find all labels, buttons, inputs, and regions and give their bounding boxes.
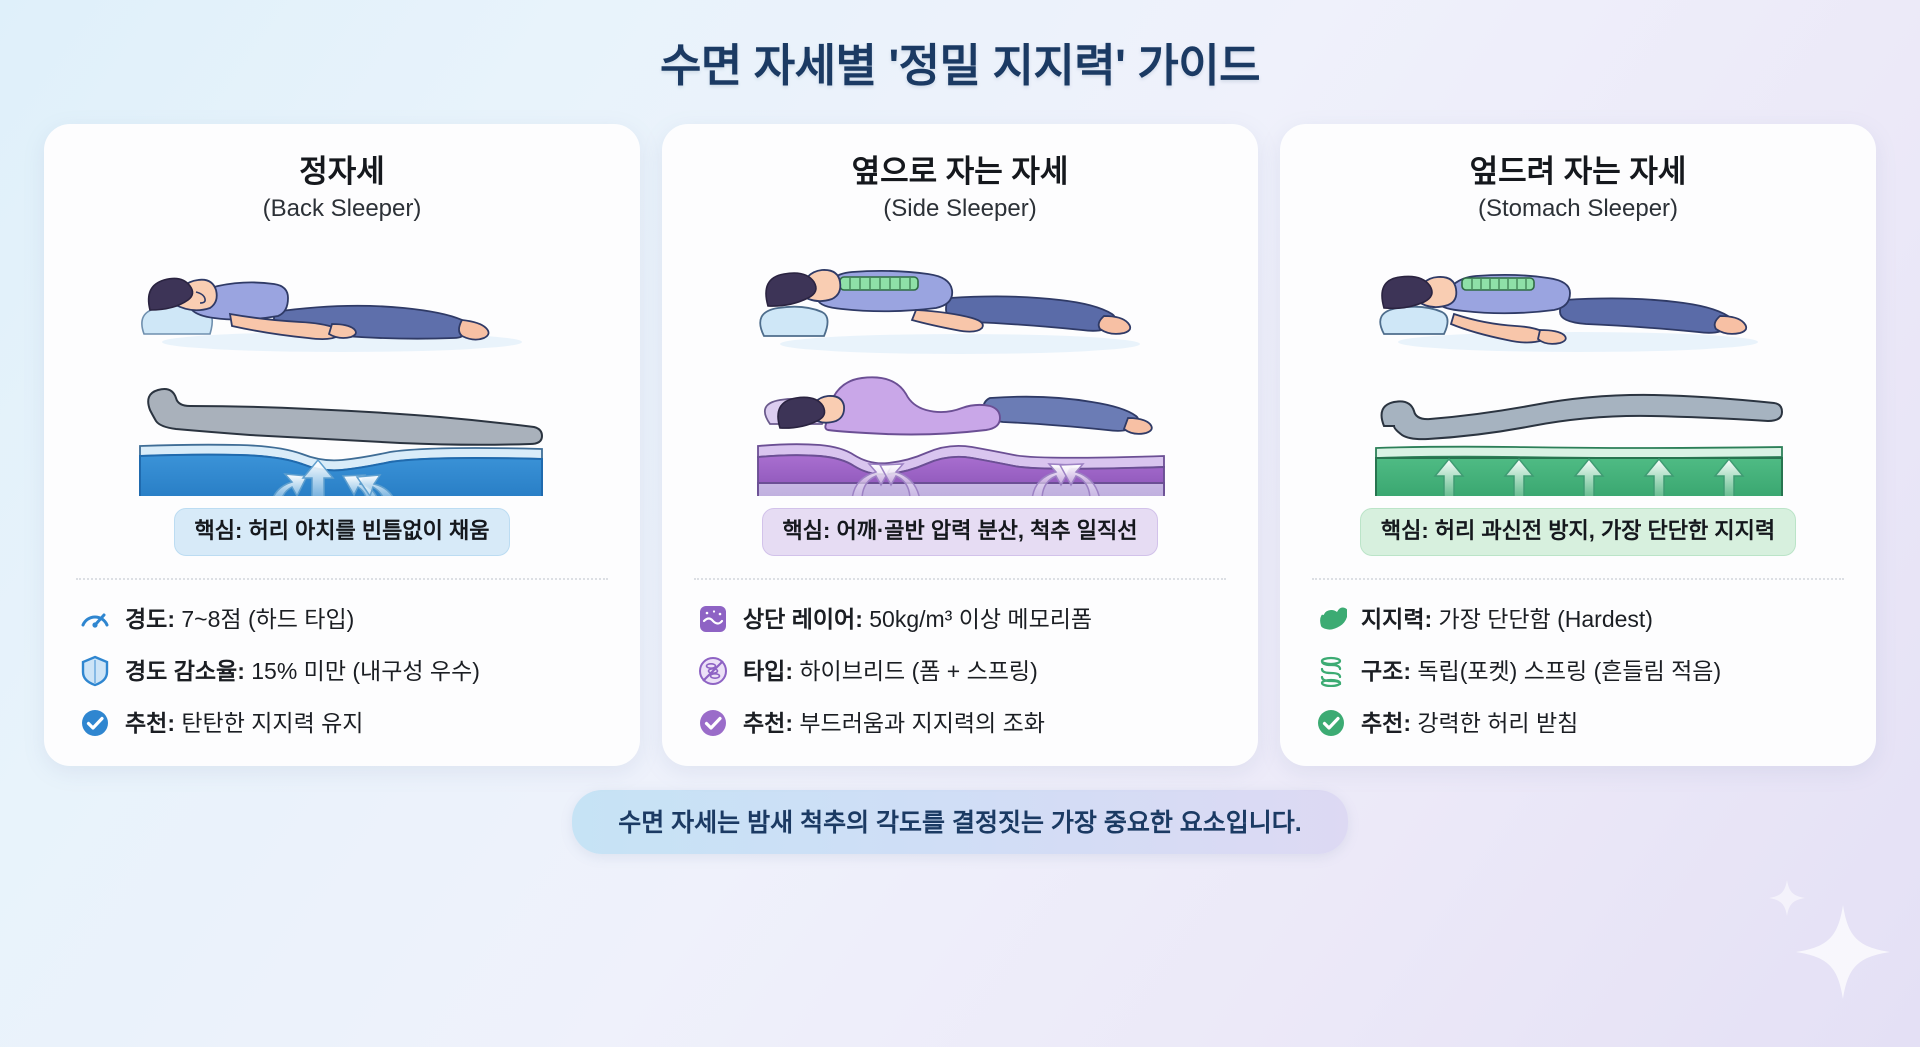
list-item-value: 부드러움과 지지력의 조화 bbox=[799, 710, 1045, 736]
card-title: 엎드려 자는 자세 bbox=[1306, 154, 1850, 191]
cards-row: 정자세 (Back Sleeper) bbox=[0, 94, 1920, 766]
list-item-text: 추천: 부드러움과 지지력의 조화 bbox=[743, 709, 1045, 738]
list-item: 지지력: 가장 단단함 (Hardest) bbox=[1314, 602, 1850, 636]
check-circle-icon bbox=[78, 706, 112, 740]
list-item-text: 상단 레이어: 50kg/m³ 이상 메모리폼 bbox=[743, 605, 1092, 634]
divider bbox=[76, 578, 608, 580]
list-item-label: 추천: bbox=[125, 710, 175, 736]
list-item-value: 독립(포켓) 스프링 (흔들림 적음) bbox=[1417, 658, 1721, 684]
footer-banner: 수면 자세는 밤새 척추의 각도를 결정짓는 가장 중요한 요소입니다. bbox=[572, 790, 1348, 854]
card-subtitle: (Side Sleeper) bbox=[688, 195, 1232, 224]
key-badge: 핵심: 허리 과신전 방지, 가장 단단한 지지력 bbox=[1360, 508, 1796, 556]
sparkle-small-decoration bbox=[1766, 877, 1808, 919]
bullet-list: 경도: 7~8점 (하드 타입) 경도 감소율: 15% 미만 (내구성 우수) bbox=[70, 602, 614, 740]
muscle-arm-icon bbox=[1314, 602, 1348, 636]
list-item: 추천: 탄탄한 지지력 유지 bbox=[78, 706, 614, 740]
list-item-label: 타입: bbox=[743, 658, 793, 684]
check-circle-icon bbox=[696, 706, 730, 740]
gauge-icon bbox=[78, 602, 112, 636]
card-subtitle: (Back Sleeper) bbox=[70, 195, 614, 224]
list-item-text: 타입: 하이브리드 (폼 + 스프링) bbox=[743, 657, 1038, 686]
list-item: 경도 감소율: 15% 미만 (내구성 우수) bbox=[78, 654, 614, 688]
bullet-list: 지지력: 가장 단단함 (Hardest) bbox=[1306, 602, 1850, 740]
key-badge-wrap: 핵심: 허리 아치를 빈틈없이 채움 bbox=[70, 508, 614, 556]
list-item: 경도: 7~8점 (하드 타입) bbox=[78, 602, 614, 636]
list-item-value: 강력한 허리 받침 bbox=[1417, 710, 1578, 736]
card-title: 정자세 bbox=[70, 154, 614, 191]
list-item-value: 가장 단단함 (Hardest) bbox=[1439, 606, 1653, 632]
illustration-stomach-sleeper bbox=[1306, 238, 1850, 496]
list-item-text: 추천: 탄탄한 지지력 유지 bbox=[125, 709, 363, 738]
divider bbox=[1312, 578, 1844, 580]
illustration-side-sleeper bbox=[688, 238, 1232, 496]
list-item-label: 추천: bbox=[743, 710, 793, 736]
illustration-back-sleeper bbox=[70, 238, 614, 496]
card-subtitle: (Stomach Sleeper) bbox=[1306, 195, 1850, 224]
list-item-label: 경도 감소율: bbox=[125, 658, 245, 684]
sparkle-decoration bbox=[1788, 897, 1898, 1007]
list-item-label: 추천: bbox=[1361, 710, 1411, 736]
shield-icon bbox=[78, 654, 112, 688]
list-item-label: 지지력: bbox=[1361, 606, 1432, 632]
list-item-value: 15% 미만 (내구성 우수) bbox=[251, 658, 480, 684]
card-side-sleeper[interactable]: 옆으로 자는 자세 (Side Sleeper) bbox=[662, 124, 1258, 766]
list-item-text: 구조: 독립(포켓) 스프링 (흔들림 적음) bbox=[1361, 657, 1721, 686]
key-badge: 핵심: 허리 아치를 빈틈없이 채움 bbox=[174, 508, 511, 556]
list-item-label: 경도: bbox=[125, 606, 175, 632]
spring-coil-circle-icon bbox=[696, 654, 730, 688]
card-back-sleeper[interactable]: 정자세 (Back Sleeper) bbox=[44, 124, 640, 766]
list-item-text: 경도 감소율: 15% 미만 (내구성 우수) bbox=[125, 657, 480, 686]
list-item-value: 50kg/m³ 이상 메모리폼 bbox=[869, 606, 1092, 632]
list-item-text: 경도: 7~8점 (하드 타입) bbox=[125, 605, 354, 634]
list-item-label: 상단 레이어: bbox=[743, 606, 863, 632]
spring-coil-icon bbox=[1314, 654, 1348, 688]
list-item: 구조: 독립(포켓) 스프링 (흔들림 적음) bbox=[1314, 654, 1850, 688]
list-item-value: 탄탄한 지지력 유지 bbox=[181, 710, 363, 736]
mattress-layer-icon bbox=[696, 602, 730, 636]
list-item: 타입: 하이브리드 (폼 + 스프링) bbox=[696, 654, 1232, 688]
list-item-value: 7~8점 (하드 타입) bbox=[181, 606, 354, 632]
check-circle-icon bbox=[1314, 706, 1348, 740]
list-item: 추천: 부드러움과 지지력의 조화 bbox=[696, 706, 1232, 740]
key-badge: 핵심: 어깨·골반 압력 분산, 척추 일직선 bbox=[762, 508, 1159, 556]
list-item-text: 지지력: 가장 단단함 (Hardest) bbox=[1361, 605, 1653, 634]
list-item-label: 구조: bbox=[1361, 658, 1411, 684]
list-item: 추천: 강력한 허리 받침 bbox=[1314, 706, 1850, 740]
card-stomach-sleeper[interactable]: 엎드려 자는 자세 (Stomach Sleeper) bbox=[1280, 124, 1876, 766]
page-title: 수면 자세별 '정밀 지지력' 가이드 bbox=[0, 0, 1920, 94]
card-title: 옆으로 자는 자세 bbox=[688, 154, 1232, 191]
footer-banner-wrap: 수면 자세는 밤새 척추의 각도를 결정짓는 가장 중요한 요소입니다. bbox=[0, 790, 1920, 854]
list-item-value: 하이브리드 (폼 + 스프링) bbox=[799, 658, 1037, 684]
bullet-list: 상단 레이어: 50kg/m³ 이상 메모리폼 타입: 하이브 bbox=[688, 602, 1232, 740]
key-badge-wrap: 핵심: 어깨·골반 압력 분산, 척추 일직선 bbox=[688, 508, 1232, 556]
list-item: 상단 레이어: 50kg/m³ 이상 메모리폼 bbox=[696, 602, 1232, 636]
list-item-text: 추천: 강력한 허리 받침 bbox=[1361, 709, 1578, 738]
divider bbox=[694, 578, 1226, 580]
key-badge-wrap: 핵심: 허리 과신전 방지, 가장 단단한 지지력 bbox=[1306, 508, 1850, 556]
